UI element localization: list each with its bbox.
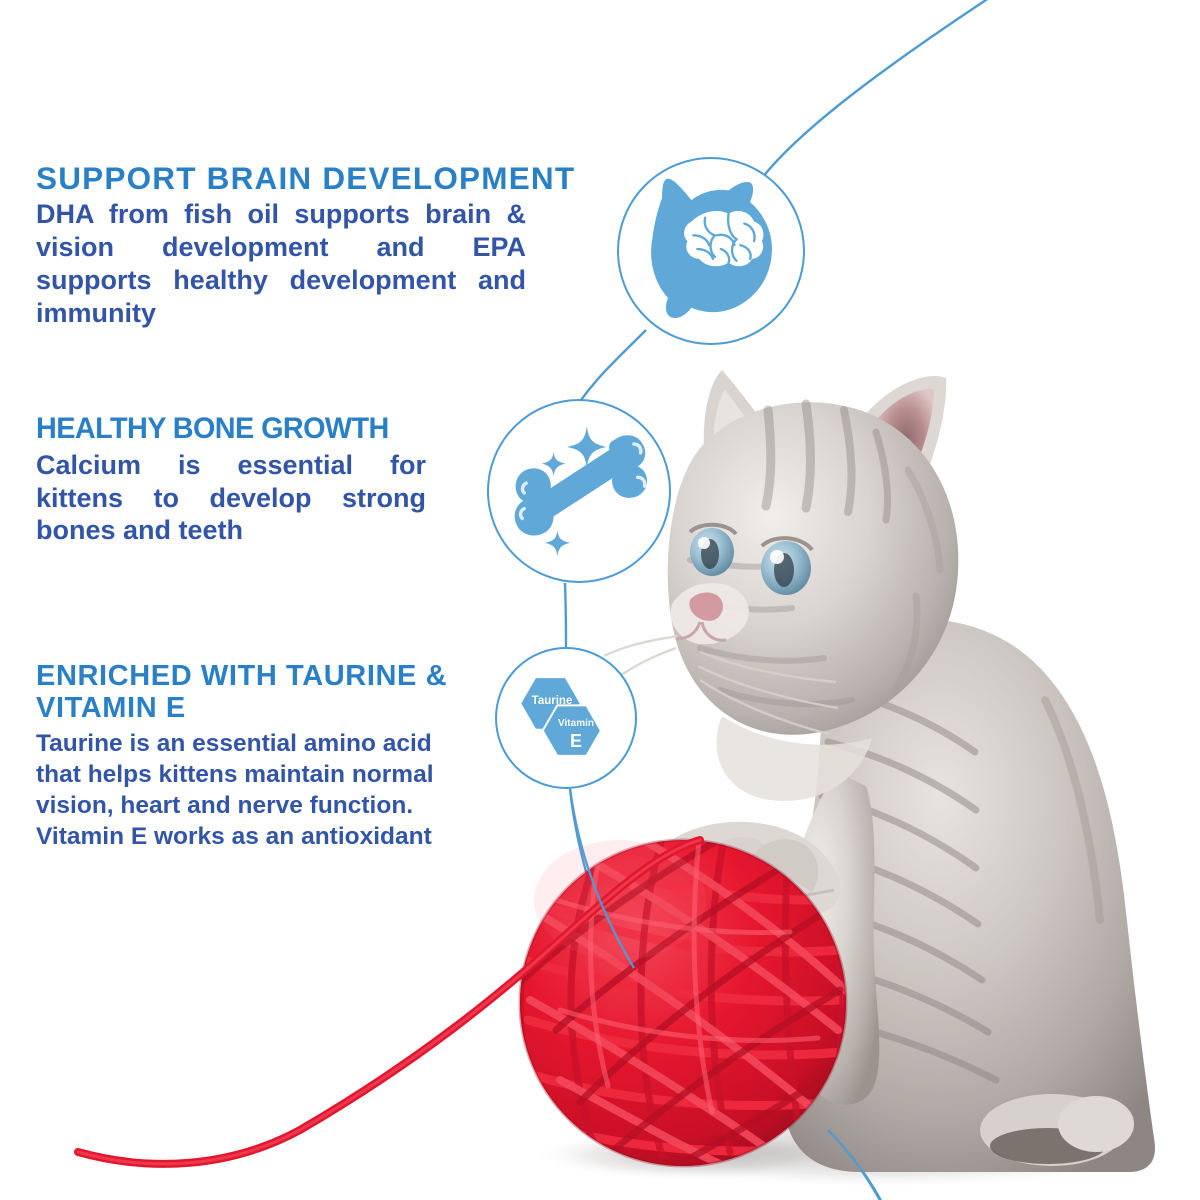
icon-bubble-brain[interactable] xyxy=(617,157,805,345)
cat-head-brain-icon xyxy=(619,159,803,343)
icon-bubble-taurine[interactable]: Taurine Vitamin E xyxy=(495,647,637,789)
icon-bubble-layer: Taurine Vitamin E xyxy=(0,0,1200,1200)
icon-bubble-bone[interactable] xyxy=(487,399,671,583)
taurine-vitamin-hexagons-icon xyxy=(497,649,635,787)
infographic-canvas: SUPPORT BRAIN DEVELOPMENT DHA from fish … xyxy=(0,0,1200,1200)
bone-sparkle-icon xyxy=(489,401,669,581)
